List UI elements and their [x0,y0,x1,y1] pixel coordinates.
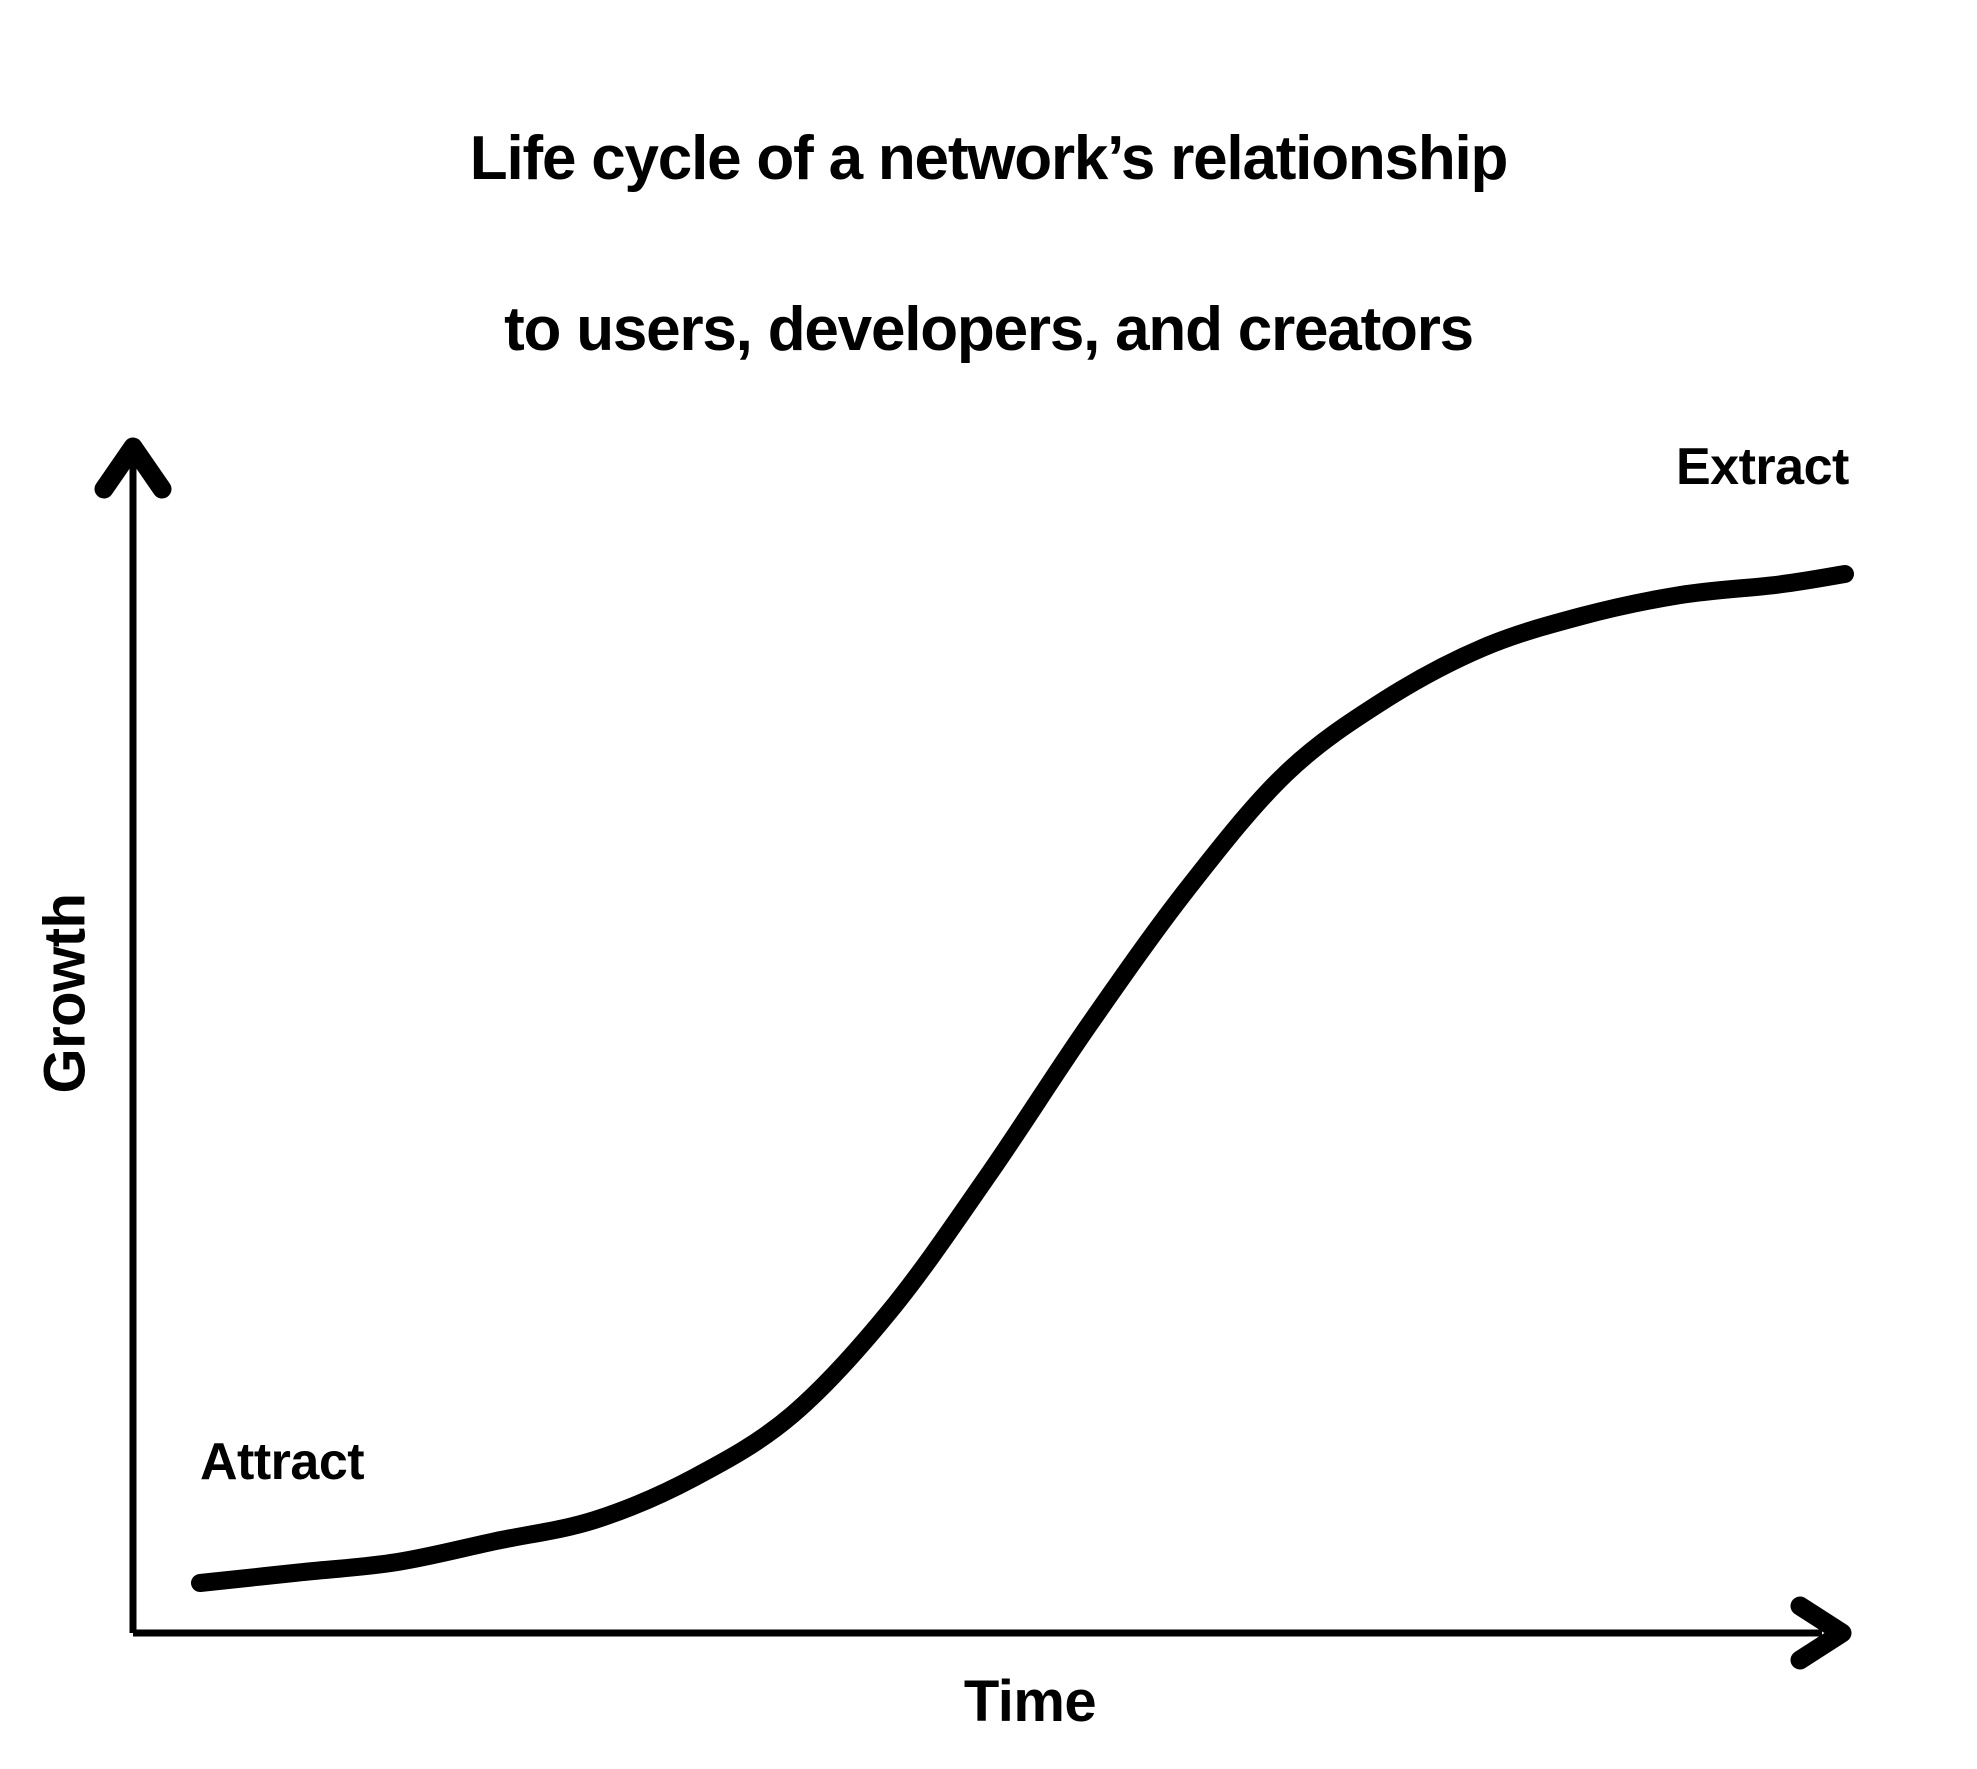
growth-curve [200,574,1845,1583]
x-axis-label: Time [880,1668,1180,1735]
annotation-extract: Extract [1676,437,1849,497]
chart-canvas: Life cycle of a network’s relationship t… [0,0,1977,1769]
plot-area [0,0,1977,1769]
annotation-attract: Attract [200,1432,364,1492]
y-axis-label: Growth [32,844,99,1144]
